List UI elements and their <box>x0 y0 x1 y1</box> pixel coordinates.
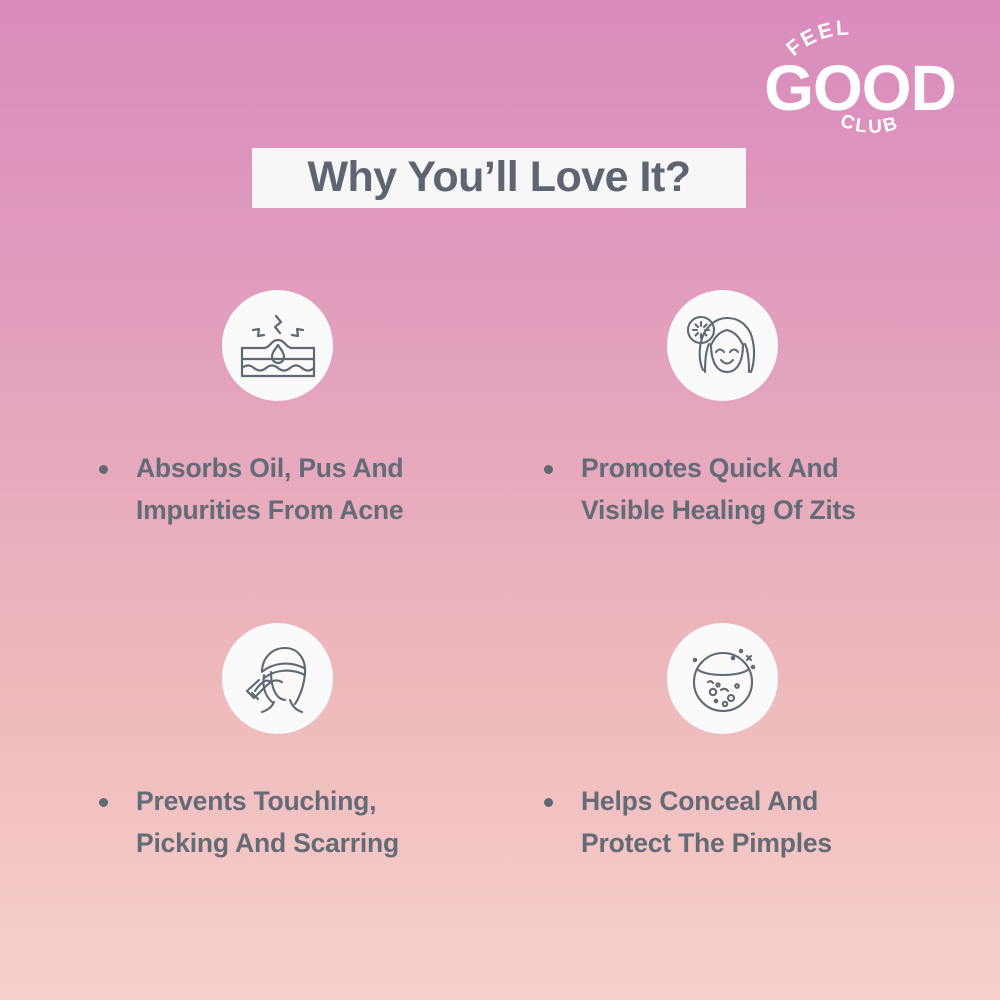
page-title: Why You’ll Love It? <box>307 156 690 199</box>
bullet-icon <box>99 465 108 474</box>
promo-poster: FEEL GOOD CLUB Why You’ll Love It? <box>0 0 1000 1000</box>
hand-touching-face-icon <box>222 623 333 734</box>
feature-row-2: Prevents Touching, Picking And Scarring <box>0 623 1000 865</box>
feature-text: Prevents Touching, Picking And Scarring <box>57 781 498 865</box>
feature-item-promotes-healing: Promotes Quick And Visible Healing Of Zi… <box>502 290 943 532</box>
feature-item-absorbs-oil: Absorbs Oil, Pus And Impurities From Acn… <box>57 290 498 532</box>
feature-label: Promotes Quick And Visible Healing Of Zi… <box>581 448 911 532</box>
bullet-icon <box>544 798 553 807</box>
feature-item-prevents-touching: Prevents Touching, Picking And Scarring <box>57 623 498 865</box>
feature-item-helps-conceal: Helps Conceal And Protect The Pimples <box>502 623 943 865</box>
feature-text: Promotes Quick And Visible Healing Of Zi… <box>502 448 943 532</box>
pimple-patch-icon <box>667 623 778 734</box>
skin-layers-inflammation-icon <box>222 290 333 401</box>
feature-label: Prevents Touching, Picking And Scarring <box>136 781 466 865</box>
page-title-band: Why You’ll Love It? <box>252 148 746 208</box>
feature-text: Absorbs Oil, Pus And Impurities From Acn… <box>57 448 498 532</box>
feature-text: Helps Conceal And Protect The Pimples <box>502 781 943 865</box>
brand-logo: FEEL GOOD CLUB <box>750 20 970 135</box>
smiling-face-sparkle-icon <box>667 290 778 401</box>
feature-row-1: Absorbs Oil, Pus And Impurities From Acn… <box>0 290 1000 532</box>
feature-label: Absorbs Oil, Pus And Impurities From Acn… <box>136 448 466 532</box>
logo-good-text: GOOD <box>764 52 956 124</box>
bullet-icon <box>544 465 553 474</box>
feature-label: Helps Conceal And Protect The Pimples <box>581 781 911 865</box>
bullet-icon <box>99 798 108 807</box>
